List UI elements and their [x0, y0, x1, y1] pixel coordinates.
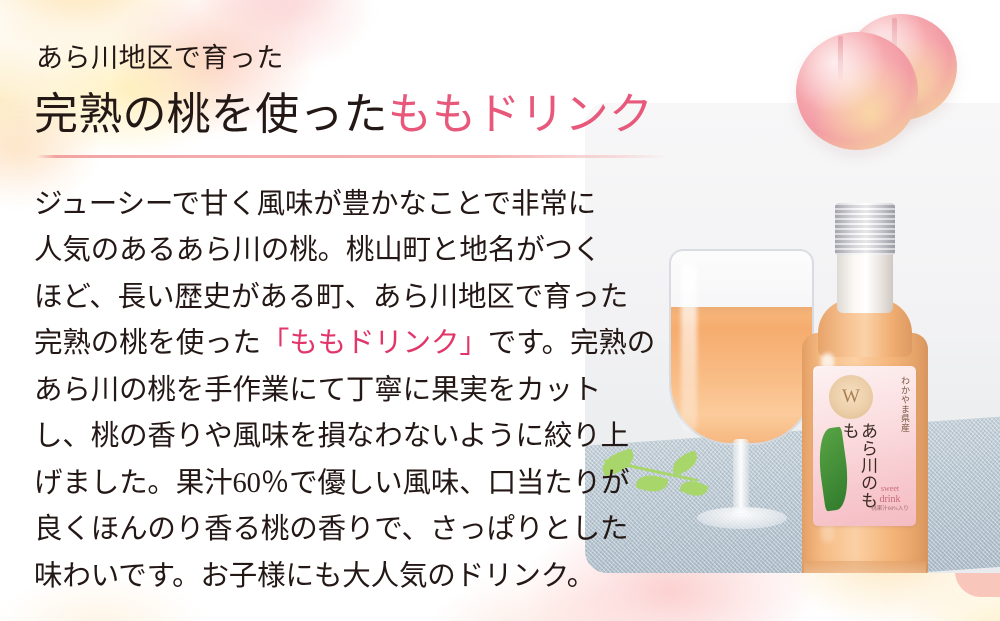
glass-foot [697, 507, 787, 529]
body-line-segment: 完熟の桃を使った [34, 328, 261, 359]
body-line: げました。果汁60％で優しい風味、口当たりが [34, 461, 579, 507]
label-crest-icon: W [829, 375, 873, 419]
body-line: 完熟の桃を使った「ももドリンク」です。完熟の [34, 321, 579, 367]
body-line: ジューシーで甘く風味が豊かなことで非常に [34, 182, 579, 228]
label-english-line1: sweet [869, 484, 911, 494]
glass-highlight [681, 263, 697, 433]
bottle-label: W わかやま県産 あら川のもも sweet drink 桃果汁60%入り [813, 366, 916, 526]
text-column: あら川地区で育った 完熟の桃を使ったももドリンク ジューシーで甘く風味が豊かなこ… [0, 0, 600, 621]
label-english-text: sweet drink 桃果汁60%入り [869, 484, 911, 513]
promo-page: W わかやま県産 あら川のもも sweet drink 桃果汁60%入り [0, 0, 1000, 621]
body-line: 良くほんのり香る桃の香りで、さっぱりとした [34, 507, 579, 553]
body-line-segment: です。完熟の [488, 328, 655, 359]
body-highlight-phrase: 「ももドリンク」 [261, 328, 488, 359]
peach-cleft [838, 36, 843, 82]
label-english-line2: drink [869, 494, 911, 507]
header-divider [36, 155, 668, 158]
body-line: 人気のあるあら川の桃。桃山町と地名がつく [34, 228, 579, 274]
headline-dark-part: 完熟の桃を使った [34, 90, 388, 139]
body-line: 味わいです。お子様にも大人気のドリンク。 [34, 554, 579, 600]
label-origin-text: わかやま県産 [894, 376, 910, 433]
bottle-neck [837, 249, 893, 313]
eyebrow-text: あら川地区で育った [36, 36, 284, 75]
body-copy: ジューシーで甘く風味が豊かなことで非常に 人気のあるあら川の桃。桃山町と地名がつ… [34, 182, 579, 600]
glass-stem [733, 439, 749, 513]
headline-pink-part: ももドリンク [388, 90, 653, 139]
body-line: あら川の桃を手作業にて丁寧に果実をカット [34, 368, 579, 414]
body-line: ほど、長い歴史がある町、あら川地区で育った [34, 275, 579, 321]
bottle-cap [835, 203, 895, 255]
bottle-base [804, 561, 926, 573]
label-english-line3: 桃果汁60%入り [869, 506, 911, 513]
peach-fruit-front [796, 32, 918, 150]
body-line: し、桃の香りや風味を損なわないように絞り上 [34, 414, 579, 460]
page-title: 完熟の桃を使ったももドリンク [34, 78, 653, 142]
